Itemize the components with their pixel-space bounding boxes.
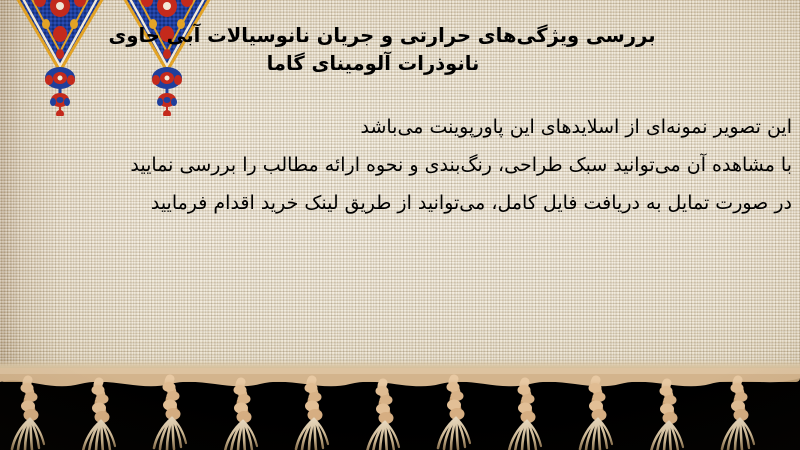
slide-title-line-1: بررسی ویژگی‌های حرارتی و جریان نانوسیالا… [18,22,746,50]
slide-canvas: بررسی ویژگی‌های حرارتی و جریان نانوسیالا… [0,0,800,450]
slide-text-layer: بررسی ویژگی‌های حرارتی و جریان نانوسیالا… [0,0,800,383]
slide-body-line-1: این تصویر نمونه‌ای از اسلایدهای این پاور… [8,108,792,146]
slide-body: این تصویر نمونه‌ای از اسلایدهای این پاور… [8,108,792,222]
slide-body-line-3: در صورت تمایل به دریافت فایل کامل، می‌تو… [8,184,792,222]
carpet-fringe-tassels [0,368,800,450]
slide-body-line-2: با مشاهده آن می‌توانید سبک طراحی، رنگ‌بن… [8,146,792,184]
slide-title: بررسی ویژگی‌های حرارتی و جریان نانوسیالا… [18,22,788,78]
slide-title-line-2: نانوذرات آلومینای گاما [18,50,728,78]
